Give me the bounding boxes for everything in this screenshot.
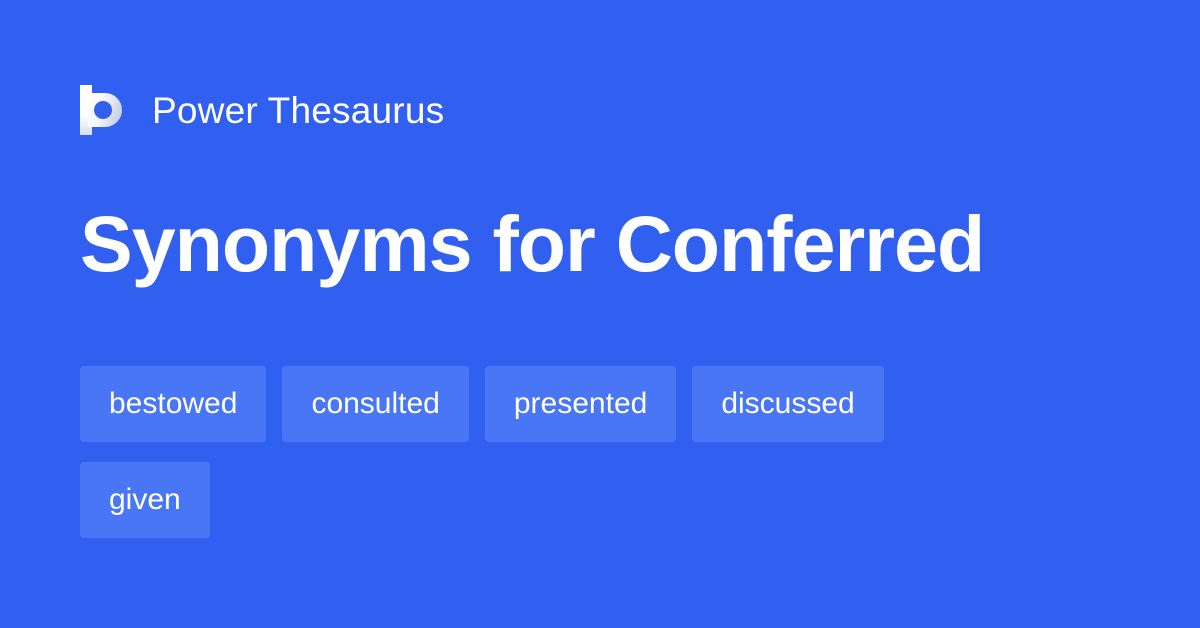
synonym-chip[interactable]: presented (485, 366, 676, 442)
synonym-chip[interactable]: given (80, 462, 210, 538)
synonym-chip[interactable]: bestowed (80, 366, 266, 442)
page-title: Synonyms for Conferred (80, 198, 984, 290)
synonym-chip-list: bestowed consulted presented discussed g… (80, 366, 1020, 538)
power-thesaurus-logo-icon (80, 85, 126, 135)
brand-lockup[interactable]: Power Thesaurus (80, 82, 444, 138)
synonym-chip[interactable]: consulted (282, 366, 468, 442)
share-card: Power Thesaurus Synonyms for Conferred b… (0, 0, 1200, 628)
synonym-chip[interactable]: discussed (692, 366, 883, 442)
brand-name: Power Thesaurus (152, 92, 444, 129)
